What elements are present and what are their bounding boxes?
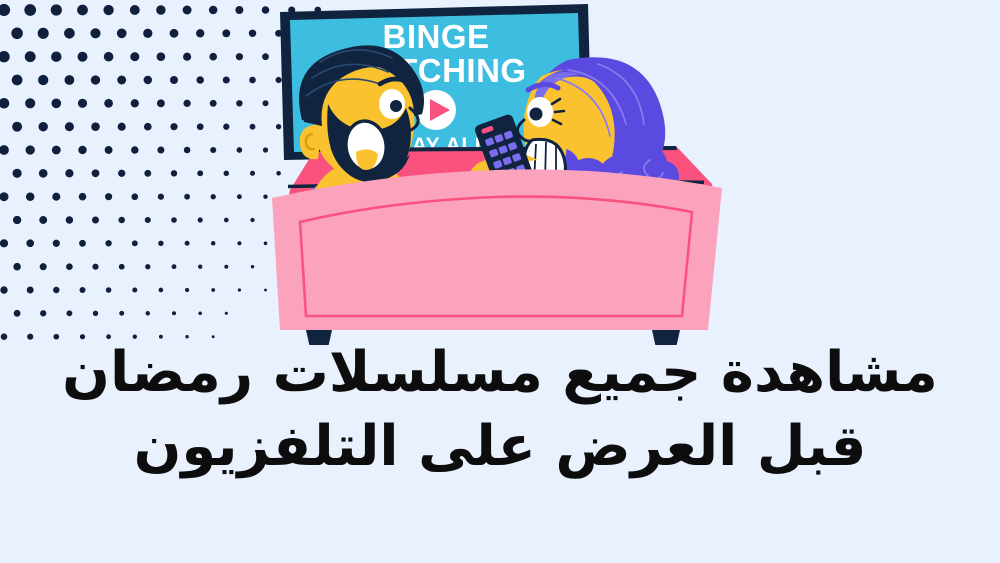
- pattern-dot: [66, 310, 72, 316]
- page-title: مشاهدة جميع مسلسلات رمضان قبل العرض على …: [0, 336, 1000, 484]
- pattern-dot: [118, 123, 126, 131]
- pattern-dot: [92, 169, 100, 177]
- pattern-dot: [12, 75, 23, 86]
- pattern-dot: [197, 170, 203, 176]
- pattern-dot: [51, 51, 61, 61]
- pattern-dot: [65, 169, 73, 177]
- pattern-dot: [198, 217, 203, 222]
- pattern-dot: [145, 217, 151, 223]
- pattern-dot: [172, 311, 176, 315]
- pattern-dot: [39, 169, 48, 178]
- pattern-dot: [158, 194, 164, 200]
- pattern-dot: [0, 239, 8, 247]
- binge-watching-illustration: BINGE WATCHING PLAY ALL: [268, 0, 728, 345]
- pattern-dot: [0, 286, 7, 293]
- pattern-dot: [24, 4, 36, 16]
- pattern-dot: [103, 5, 113, 15]
- pattern-dot: [0, 192, 8, 201]
- pattern-dot: [145, 264, 150, 269]
- pattern-dot: [117, 76, 126, 85]
- pattern-dot: [51, 4, 62, 15]
- pattern-dot: [264, 241, 268, 245]
- pattern-dot: [235, 6, 243, 14]
- pattern-dot: [210, 147, 216, 153]
- pattern-dot: [105, 240, 111, 246]
- pattern-dot: [78, 52, 88, 62]
- woman-eye-pupil: [530, 108, 543, 121]
- pattern-dot: [38, 122, 47, 131]
- pattern-dot: [0, 51, 10, 62]
- pattern-dot: [11, 28, 23, 40]
- man-eye-pupil: [390, 100, 402, 112]
- pattern-dot: [183, 100, 190, 107]
- pattern-dot: [91, 122, 100, 131]
- pattern-dot: [0, 4, 10, 16]
- pattern-dot: [64, 75, 74, 85]
- headline-line-2: قبل العرض على التلفزيون: [0, 410, 1000, 484]
- tv-title-line1: BINGE: [382, 18, 489, 55]
- pattern-dot: [91, 75, 100, 84]
- pattern-dot: [39, 216, 47, 224]
- pattern-dot: [223, 124, 229, 130]
- pattern-dot: [236, 100, 242, 106]
- pattern-dot: [12, 122, 22, 132]
- pattern-dot: [104, 52, 114, 62]
- pattern-dot: [40, 310, 46, 316]
- pattern-dot: [143, 29, 152, 38]
- pattern-dot: [211, 194, 216, 199]
- pattern-dot: [92, 217, 99, 224]
- pattern-dot: [25, 51, 36, 62]
- pattern-dot: [251, 265, 254, 268]
- pattern-dot: [171, 170, 177, 176]
- pattern-dot: [198, 265, 202, 269]
- pattern-dot: [172, 264, 177, 269]
- pattern-dot: [13, 216, 21, 224]
- pattern-dot: [51, 98, 61, 108]
- pattern-dot: [250, 124, 256, 130]
- headline-line-1: مشاهدة جميع مسلسلات رمضان: [0, 336, 1000, 410]
- pattern-dot: [170, 123, 177, 130]
- pattern-dot: [236, 53, 243, 60]
- pattern-dot: [25, 98, 35, 108]
- pattern-dot: [92, 264, 98, 270]
- pattern-dot: [104, 99, 113, 108]
- pattern-dot: [93, 311, 98, 316]
- pattern-dot: [52, 146, 61, 155]
- pattern-dot: [26, 192, 35, 201]
- pattern-dot: [79, 240, 86, 247]
- pattern-dot: [238, 288, 241, 291]
- pattern-dot: [13, 263, 21, 271]
- pattern-dot: [157, 52, 166, 61]
- pattern-dot: [0, 98, 9, 109]
- pattern-dot: [185, 288, 189, 292]
- pattern-dot: [196, 29, 204, 37]
- pattern-dot: [170, 76, 178, 84]
- pattern-dot: [197, 123, 204, 130]
- pattern-dot: [90, 28, 100, 38]
- pattern-dot: [27, 287, 34, 294]
- pattern-dot: [26, 145, 35, 154]
- pattern-dot: [130, 5, 140, 15]
- pattern-dot: [144, 170, 151, 177]
- pattern-dot: [183, 6, 192, 15]
- pattern-dot: [184, 194, 190, 200]
- pattern-dot: [211, 241, 216, 246]
- pattern-dot: [38, 28, 49, 39]
- pattern-dot: [249, 30, 256, 37]
- pattern-dot: [183, 53, 191, 61]
- pattern-dot: [158, 241, 163, 246]
- pattern-dot: [40, 263, 47, 270]
- pattern-dot: [131, 99, 139, 107]
- pattern-dot: [249, 77, 256, 84]
- pattern-dot: [144, 123, 152, 131]
- pattern-dot: [131, 146, 138, 153]
- pattern-dot: [66, 216, 73, 223]
- pattern-dot: [13, 169, 22, 178]
- pattern-dot: [26, 239, 34, 247]
- pattern-dot: [53, 287, 59, 293]
- pattern-dot: [159, 288, 164, 293]
- pattern-dot: [52, 193, 60, 201]
- couch-body: [272, 169, 722, 330]
- pattern-dot: [209, 6, 218, 15]
- pattern-dot: [117, 28, 127, 38]
- pattern-dot: [225, 312, 228, 315]
- pattern-dot: [78, 146, 86, 154]
- pattern-dot: [105, 193, 112, 200]
- pattern-dot: [156, 5, 165, 14]
- pattern-dot: [131, 193, 138, 200]
- pattern-dot: [210, 100, 217, 107]
- pattern-dot: [14, 310, 21, 317]
- pattern-dot: [224, 218, 229, 223]
- pattern-dot: [250, 171, 255, 176]
- pattern-dot: [170, 29, 179, 38]
- pattern-dot: [171, 217, 177, 223]
- pattern-dot: [79, 193, 87, 201]
- pattern-dot: [209, 53, 217, 61]
- pattern-dot: [264, 289, 267, 292]
- pattern-dot: [118, 170, 125, 177]
- pattern-dot: [105, 146, 113, 154]
- pattern-dot: [224, 265, 228, 269]
- pattern-dot: [0, 145, 9, 155]
- pattern-dot: [66, 263, 73, 270]
- pattern-dot: [224, 171, 230, 177]
- pattern-dot: [106, 287, 112, 293]
- pattern-dot: [118, 217, 125, 224]
- pattern-dot: [237, 241, 241, 245]
- pattern-dot: [157, 146, 164, 153]
- poster-canvas: BINGE WATCHING PLAY ALL: [0, 0, 1000, 563]
- pattern-dot: [38, 75, 48, 85]
- pattern-dot: [132, 287, 137, 292]
- pattern-dot: [144, 76, 152, 84]
- pattern-dot: [79, 287, 85, 293]
- pattern-dot: [211, 288, 215, 292]
- pattern-dot: [65, 122, 74, 131]
- pattern-dot: [196, 76, 204, 84]
- pattern-dot: [237, 147, 243, 153]
- couch: [272, 169, 722, 345]
- pattern-dot: [184, 147, 191, 154]
- pattern-dot: [222, 29, 230, 37]
- pattern-dot: [223, 76, 230, 83]
- pattern-dot: [185, 241, 190, 246]
- pattern-dot: [119, 311, 124, 316]
- pattern-dot: [53, 240, 60, 247]
- pattern-dot: [78, 99, 87, 108]
- pattern-dot: [146, 311, 150, 315]
- pattern-dot: [198, 312, 202, 316]
- pattern-dot: [130, 52, 139, 61]
- pattern-dot: [250, 218, 254, 222]
- pattern-dot: [237, 194, 242, 199]
- pattern-dot: [119, 264, 125, 270]
- pattern-dot: [77, 5, 88, 16]
- pattern-dot: [64, 28, 75, 39]
- pattern-dot: [157, 99, 165, 107]
- pattern-dot: [132, 240, 138, 246]
